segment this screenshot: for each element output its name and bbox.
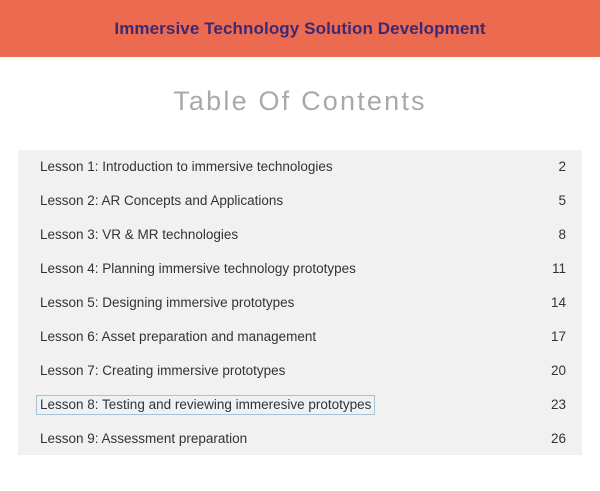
toc-entry-label[interactable]: Lesson 6: Asset preparation and manageme… bbox=[36, 327, 320, 348]
toc-page-number: 23 bbox=[544, 398, 566, 412]
toc-entry-row[interactable]: Lesson 1: Introduction to immersive tech… bbox=[18, 150, 582, 184]
toc-entry-label[interactable]: Lesson 1: Introduction to immersive tech… bbox=[36, 157, 337, 178]
toc-entry-row[interactable]: Lesson 5: Designing immersive prototypes… bbox=[18, 286, 582, 320]
document-title: Immersive Technology Solution Developmen… bbox=[114, 20, 485, 37]
toc-page-number: 8 bbox=[544, 228, 566, 242]
toc-page-number: 17 bbox=[544, 330, 566, 344]
toc-page-number: 14 bbox=[544, 296, 566, 310]
toc-entry-row[interactable]: Lesson 6: Asset preparation and manageme… bbox=[18, 320, 582, 354]
toc-entry-row[interactable]: Lesson 2: AR Concepts and Applications5 bbox=[18, 184, 582, 218]
toc-entry-row[interactable]: Lesson 8: Testing and reviewing immeresi… bbox=[18, 388, 582, 422]
document-header-band: Immersive Technology Solution Developmen… bbox=[0, 0, 600, 57]
toc-page-number: 2 bbox=[544, 160, 566, 174]
toc-entry-label[interactable]: Lesson 3: VR & MR technologies bbox=[36, 225, 242, 246]
toc-entry-label[interactable]: Lesson 9: Assessment preparation bbox=[36, 429, 251, 450]
toc-page-number: 5 bbox=[544, 194, 566, 208]
toc-entry-row[interactable]: Lesson 4: Planning immersive technology … bbox=[18, 252, 582, 286]
toc-entry-label[interactable]: Lesson 8: Testing and reviewing immeresi… bbox=[36, 395, 375, 416]
toc-page-number: 20 bbox=[544, 364, 566, 378]
toc-entry-row[interactable]: Lesson 9: Assessment preparation26 bbox=[18, 422, 582, 456]
page-title: Table Of Contents bbox=[0, 85, 600, 117]
toc-page-number: 11 bbox=[544, 262, 566, 276]
table-of-contents-panel: Lesson 1: Introduction to immersive tech… bbox=[18, 150, 582, 455]
toc-entry-row[interactable]: Lesson 7: Creating immersive prototypes2… bbox=[18, 354, 582, 388]
toc-entry-label[interactable]: Lesson 7: Creating immersive prototypes bbox=[36, 361, 289, 382]
toc-page-number: 26 bbox=[544, 432, 566, 446]
toc-entry-label[interactable]: Lesson 2: AR Concepts and Applications bbox=[36, 191, 287, 212]
toc-entry-row[interactable]: Lesson 3: VR & MR technologies8 bbox=[18, 218, 582, 252]
toc-entry-label[interactable]: Lesson 4: Planning immersive technology … bbox=[36, 259, 360, 280]
toc-entry-label[interactable]: Lesson 5: Designing immersive prototypes bbox=[36, 293, 298, 314]
